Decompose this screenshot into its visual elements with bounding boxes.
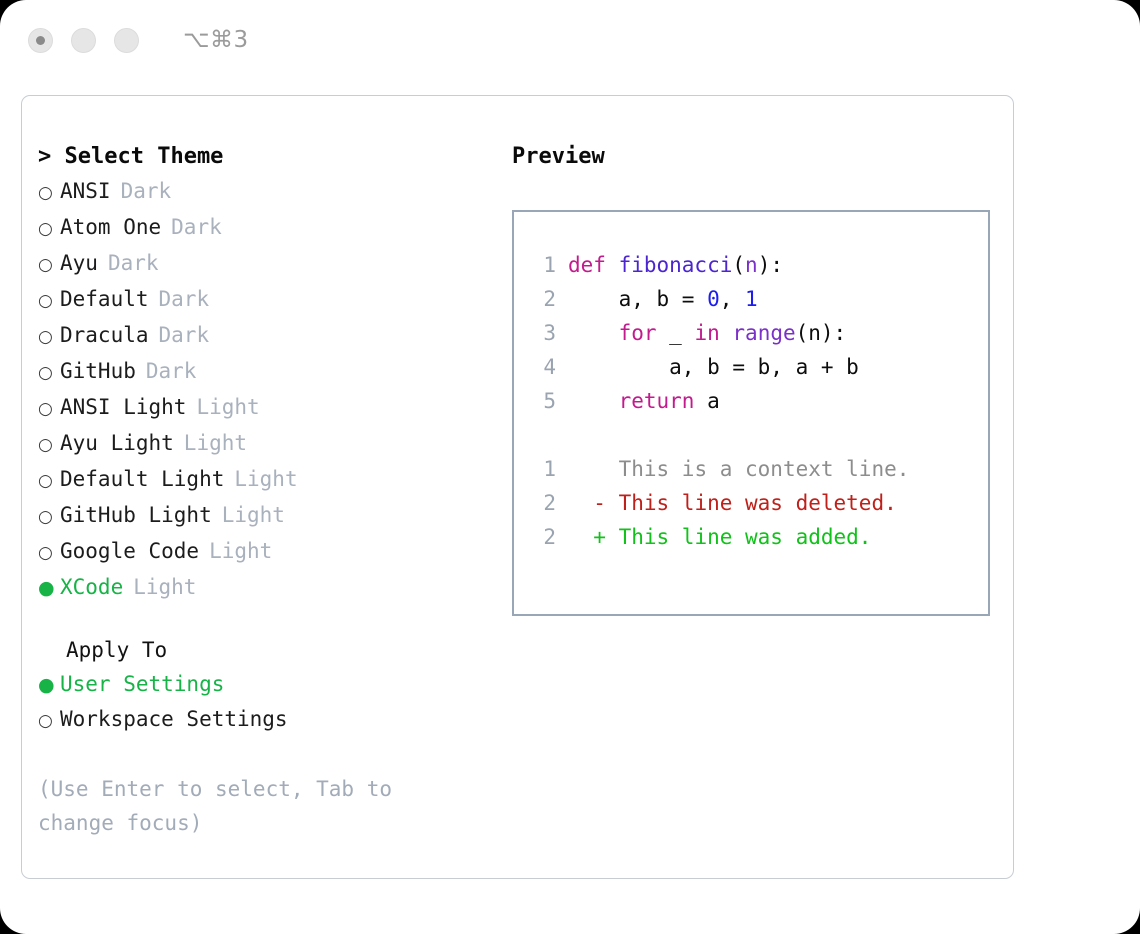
- code-token-pl: (n):: [796, 321, 847, 345]
- code-token-pl: ,: [720, 287, 745, 311]
- diff-sign: -: [568, 491, 606, 515]
- code-token-kw: return: [619, 389, 695, 413]
- apply-to-option-label: User Settings: [60, 667, 224, 701]
- apply-to-option-label: Workspace Settings: [60, 702, 288, 736]
- theme-option-ayu-light[interactable]: ○Ayu LightLight: [38, 426, 508, 462]
- code-token-pl: ):: [758, 253, 783, 277]
- select-theme-heading: > Select Theme: [38, 140, 508, 174]
- code-token-num: 0: [707, 287, 720, 311]
- section-spacer: [38, 605, 508, 633]
- code-line: 2 a, b = 0, 1: [530, 282, 988, 316]
- diff-sign: [568, 457, 606, 481]
- theme-option-github[interactable]: ○GitHubDark: [38, 354, 508, 390]
- theme-variant-badge: Light: [222, 498, 285, 532]
- window-controls: [28, 28, 139, 53]
- theme-variant-badge: Light: [196, 390, 259, 424]
- apply-to-list: ●User Settings○Workspace Settings: [38, 667, 508, 738]
- preview-panel: Preview 1def fibonacci(n):2 a, b = 0, 13…: [508, 140, 1013, 840]
- theme-option-ayu[interactable]: ○AyuDark: [38, 246, 508, 282]
- theme-option-github-light[interactable]: ○GitHub LightLight: [38, 498, 508, 534]
- line-number: 1: [530, 452, 556, 486]
- code-diff-gap: [530, 418, 988, 452]
- theme-list: ○ANSIDark○Atom OneDark○AyuDark○DefaultDa…: [38, 174, 508, 605]
- theme-variant-badge: Dark: [159, 318, 210, 352]
- radio-unselected-icon: ○: [38, 284, 60, 318]
- theme-variant-badge: Dark: [171, 210, 222, 244]
- radio-unselected-icon: ○: [38, 248, 60, 282]
- code-token-fn: fibonacci: [619, 253, 733, 277]
- radio-unselected-icon: ○: [38, 500, 60, 534]
- theme-option-xcode[interactable]: ●XCodeLight: [38, 570, 508, 605]
- diff-text: This line was added.: [606, 525, 872, 549]
- theme-option-label: GitHub Light: [60, 498, 212, 532]
- radio-selected-icon: ●: [38, 668, 60, 702]
- radio-unselected-icon: ○: [38, 356, 60, 390]
- theme-option-label: ANSI: [60, 174, 111, 208]
- window-dot-active-inner: [36, 36, 45, 45]
- code-token-pl: [720, 321, 733, 345]
- theme-option-label: XCode: [60, 570, 123, 604]
- apply-to-option-user-settings[interactable]: ●User Settings: [38, 667, 508, 702]
- code-token-pl: a, b =: [568, 287, 707, 311]
- app-window: ⌥⌘3 > Select Theme ○ANSIDark○Atom OneDar…: [0, 0, 1140, 934]
- theme-option-ansi-light[interactable]: ○ANSI LightLight: [38, 390, 508, 426]
- code-sample: 1def fibonacci(n):2 a, b = 0, 13 for _ i…: [530, 248, 988, 418]
- radio-unselected-icon: ○: [38, 176, 60, 210]
- diff-line-del: 2 - This line was deleted.: [530, 486, 988, 520]
- radio-unselected-icon: ○: [38, 704, 60, 738]
- code-line: 5 return a: [530, 384, 988, 418]
- diff-text: This line was deleted.: [606, 491, 897, 515]
- theme-option-ansi[interactable]: ○ANSIDark: [38, 174, 508, 210]
- title-bar: ⌥⌘3: [0, 0, 1140, 80]
- preview-heading: Preview: [512, 140, 1013, 174]
- theme-variant-badge: Dark: [159, 282, 210, 316]
- theme-option-label: Default: [60, 282, 149, 316]
- preview-box: 1def fibonacci(n):2 a, b = 0, 13 for _ i…: [512, 210, 990, 616]
- diff-line-add: 2 + This line was added.: [530, 520, 988, 554]
- keyboard-hint-text: (Use Enter to select, Tab to change focu…: [38, 772, 458, 840]
- radio-unselected-icon: ○: [38, 212, 60, 246]
- code-token-kw: for: [619, 321, 657, 345]
- theme-variant-badge: Dark: [108, 246, 159, 280]
- theme-variant-badge: Light: [209, 534, 272, 568]
- code-token-pl: _: [657, 321, 695, 345]
- theme-option-dracula[interactable]: ○DraculaDark: [38, 318, 508, 354]
- theme-selection-panel: > Select Theme ○ANSIDark○Atom OneDark○Ay…: [38, 140, 508, 840]
- keyboard-shortcut-label: ⌥⌘3: [183, 27, 249, 53]
- radio-unselected-icon: ○: [38, 536, 60, 570]
- theme-option-label: Ayu Light: [60, 426, 174, 460]
- code-token-kw: def: [568, 253, 619, 277]
- radio-unselected-icon: ○: [38, 320, 60, 354]
- theme-option-label: Google Code: [60, 534, 199, 568]
- code-token-var: n: [745, 253, 758, 277]
- theme-variant-badge: Light: [184, 426, 247, 460]
- theme-option-label: Ayu: [60, 246, 98, 280]
- diff-line-ctx: 1 This is a context line.: [530, 452, 988, 486]
- window-dot-active[interactable]: [28, 28, 53, 53]
- line-number: 5: [530, 384, 556, 418]
- theme-option-label: Atom One: [60, 210, 161, 244]
- code-token-pl: a, b = b, a + b: [568, 355, 859, 379]
- dialog-columns: > Select Theme ○ANSIDark○Atom OneDark○Ay…: [22, 96, 1013, 840]
- code-line: 1def fibonacci(n):: [530, 248, 988, 282]
- code-token-pl: a: [694, 389, 719, 413]
- theme-variant-badge: Light: [133, 570, 196, 604]
- theme-variant-badge: Dark: [146, 354, 197, 388]
- radio-unselected-icon: ○: [38, 464, 60, 498]
- line-number: 4: [530, 350, 556, 384]
- line-number: 1: [530, 248, 556, 282]
- line-number: 2: [530, 520, 556, 554]
- radio-selected-icon: ●: [38, 571, 60, 605]
- line-number: 2: [530, 486, 556, 520]
- theme-option-label: Default Light: [60, 462, 224, 496]
- dialog-window: > Select Theme ○ANSIDark○Atom OneDark○Ay…: [21, 95, 1014, 879]
- code-token-kw: in: [694, 321, 719, 345]
- theme-option-default-light[interactable]: ○Default LightLight: [38, 462, 508, 498]
- line-number: 2: [530, 282, 556, 316]
- apply-to-heading: Apply To: [66, 633, 508, 667]
- code-token-var: range: [732, 321, 795, 345]
- radio-unselected-icon: ○: [38, 428, 60, 462]
- theme-option-label: GitHub: [60, 354, 136, 388]
- theme-option-google-code[interactable]: ○Google CodeLight: [38, 534, 508, 570]
- theme-option-atom-one[interactable]: ○Atom OneDark: [38, 210, 508, 246]
- theme-variant-badge: Dark: [121, 174, 172, 208]
- radio-unselected-icon: ○: [38, 392, 60, 426]
- code-token-pl: (: [732, 253, 745, 277]
- diff-sample: 1 This is a context line.2 - This line w…: [530, 452, 988, 554]
- code-token-num: 1: [745, 287, 758, 311]
- theme-option-label: Dracula: [60, 318, 149, 352]
- theme-option-default[interactable]: ○DefaultDark: [38, 282, 508, 318]
- code-line: 3 for _ in range(n):: [530, 316, 988, 350]
- code-token-pl: [568, 321, 619, 345]
- window-dot-second[interactable]: [71, 28, 96, 53]
- code-token-pl: [568, 389, 619, 413]
- code-line: 4 a, b = b, a + b: [530, 350, 988, 384]
- apply-to-option-workspace-settings[interactable]: ○Workspace Settings: [38, 702, 508, 738]
- line-number: 3: [530, 316, 556, 350]
- theme-variant-badge: Light: [234, 462, 297, 496]
- theme-option-label: ANSI Light: [60, 390, 186, 424]
- diff-sign: +: [568, 525, 606, 549]
- diff-text: This is a context line.: [606, 457, 909, 481]
- window-dot-third[interactable]: [114, 28, 139, 53]
